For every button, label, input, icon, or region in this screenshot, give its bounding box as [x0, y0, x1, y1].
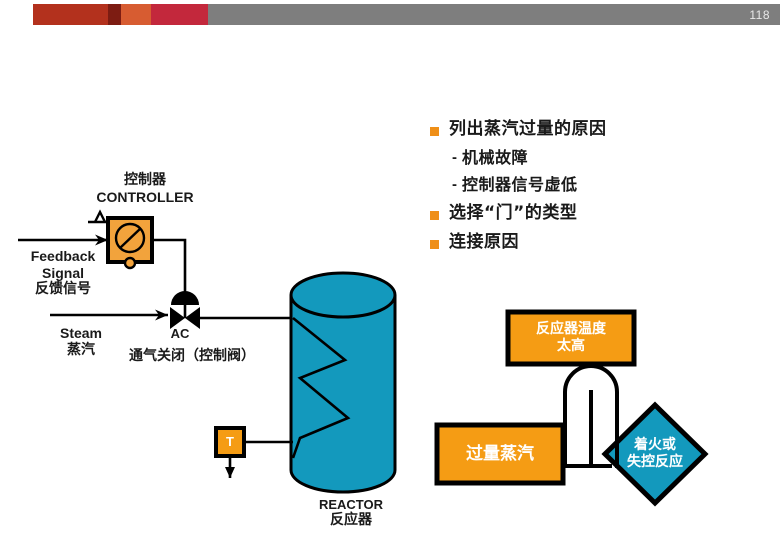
bullet-item-label: 选择“门”的类型 [449, 204, 577, 224]
steam-label-en: Steam [38, 325, 124, 342]
control-valve[interactable] [170, 291, 200, 329]
outcome-box-temperature[interactable] [508, 312, 634, 364]
bullet-item-label: 列出蒸汽过量的原因 [449, 120, 607, 140]
feedback-label-line1: Feedback [8, 248, 118, 265]
bullet-square-icon [430, 240, 439, 249]
valve-tag-label: AC [155, 326, 205, 341]
bullet-square-icon [430, 211, 439, 220]
bullet-square-icon [430, 127, 439, 136]
setpoint-stub-line [88, 212, 108, 222]
temperature-sensor-box[interactable] [216, 428, 244, 456]
reactor-label-cn: 反应器 [296, 512, 406, 529]
valve-caption-label: 通气关闭（控制阀） [112, 348, 272, 365]
controller-label-cn: 控制器 [60, 172, 230, 189]
bullet-sub-item: -控制器信号虚低 [452, 176, 730, 195]
control-signal-line [152, 240, 185, 300]
feedback-label-cn: 反馈信号 [8, 281, 118, 298]
bullet-sub-item: -机械故障 [452, 149, 730, 168]
bullet-sub-item-label: 控制器信号虚低 [462, 176, 578, 194]
reactor-label-en: REACTOR [296, 497, 406, 512]
bullet-list: 列出蒸汽过量的原因-机械故障-控制器信号虚低选择“门”的类型连接原因 [430, 120, 730, 261]
feedback-signal-label: Feedback Signal 反馈信号 [8, 248, 118, 298]
controller-label-en: CONTROLLER [60, 189, 230, 206]
outcome-diamond-fire[interactable] [605, 405, 705, 503]
bullet-dash-icon: - [452, 176, 457, 195]
controller-label: 控制器 CONTROLLER [60, 172, 230, 205]
reactor-label: REACTOR 反应器 [296, 497, 406, 529]
bullet-sub-item-label: 机械故障 [462, 149, 528, 167]
outcome-box-excess-steam[interactable] [437, 425, 563, 483]
bullet-item: 列出蒸汽过量的原因 [430, 120, 730, 140]
bullet-item: 连接原因 [430, 233, 730, 253]
feedback-label-line2: Signal [8, 265, 118, 282]
bullet-item-label: 连接原因 [449, 233, 519, 253]
bullet-dash-icon: - [452, 149, 457, 168]
bullet-item: 选择“门”的类型 [430, 204, 730, 224]
